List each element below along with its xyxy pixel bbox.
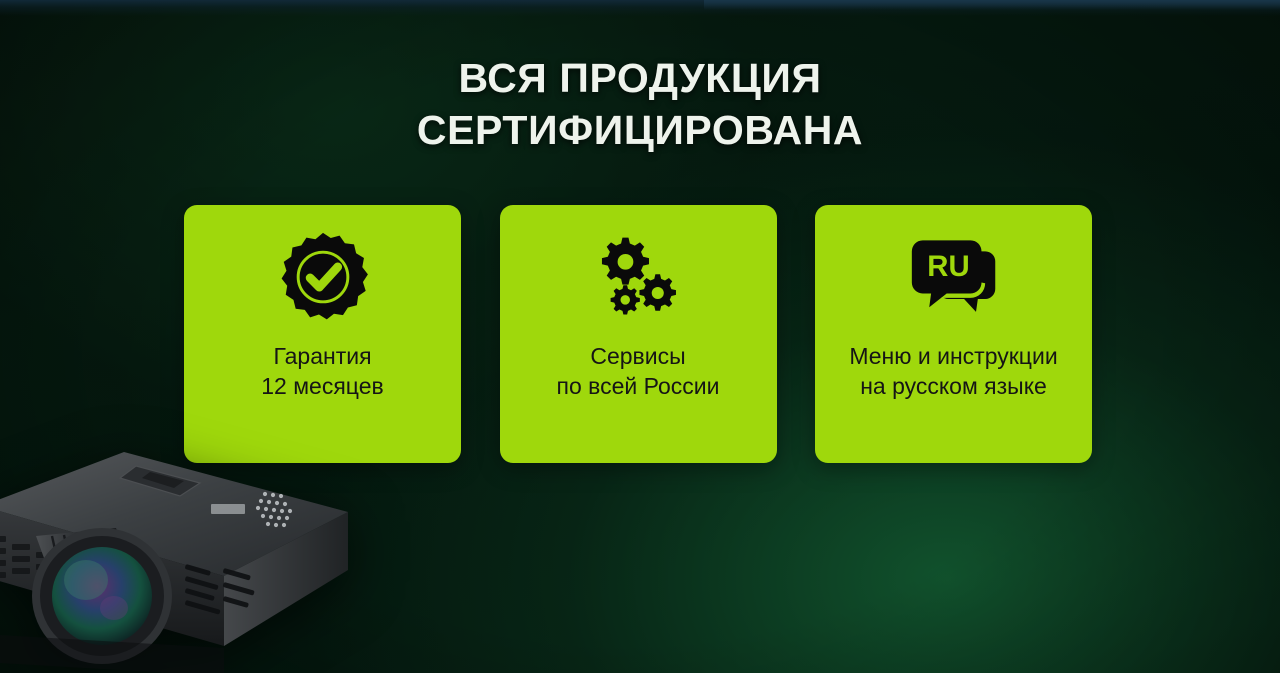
feature-card-service[interactable]: Сервисы по всей России (500, 205, 777, 463)
page-title: ВСЯ ПРОДУКЦИЯ СЕРТИФИЦИРОВАНА (0, 52, 1280, 157)
gears-icon (500, 205, 777, 335)
feature-card-list: Гарантия 12 месяцев (184, 205, 1092, 463)
feature-card-label: Меню и инструкции на русском языке (839, 341, 1067, 402)
feature-card-label: Сервисы по всей России (547, 341, 730, 402)
projector-photo (0, 436, 366, 673)
slide-canvas: ВСЯ ПРОДУКЦИЯ СЕРТИФИЦИРОВАНА Гарантия 1… (0, 0, 1280, 673)
verified-badge-icon (184, 205, 461, 335)
ru-speech-bubble-icon: RU (815, 205, 1092, 335)
svg-text:RU: RU (927, 250, 969, 283)
feature-card-warranty[interactable]: Гарантия 12 месяцев (184, 205, 461, 463)
feature-card-label: Гарантия 12 месяцев (251, 341, 393, 402)
feature-card-language[interactable]: RU Меню и инструкции на русском языке (815, 205, 1092, 463)
background-top-band-highlight (704, 0, 1280, 10)
